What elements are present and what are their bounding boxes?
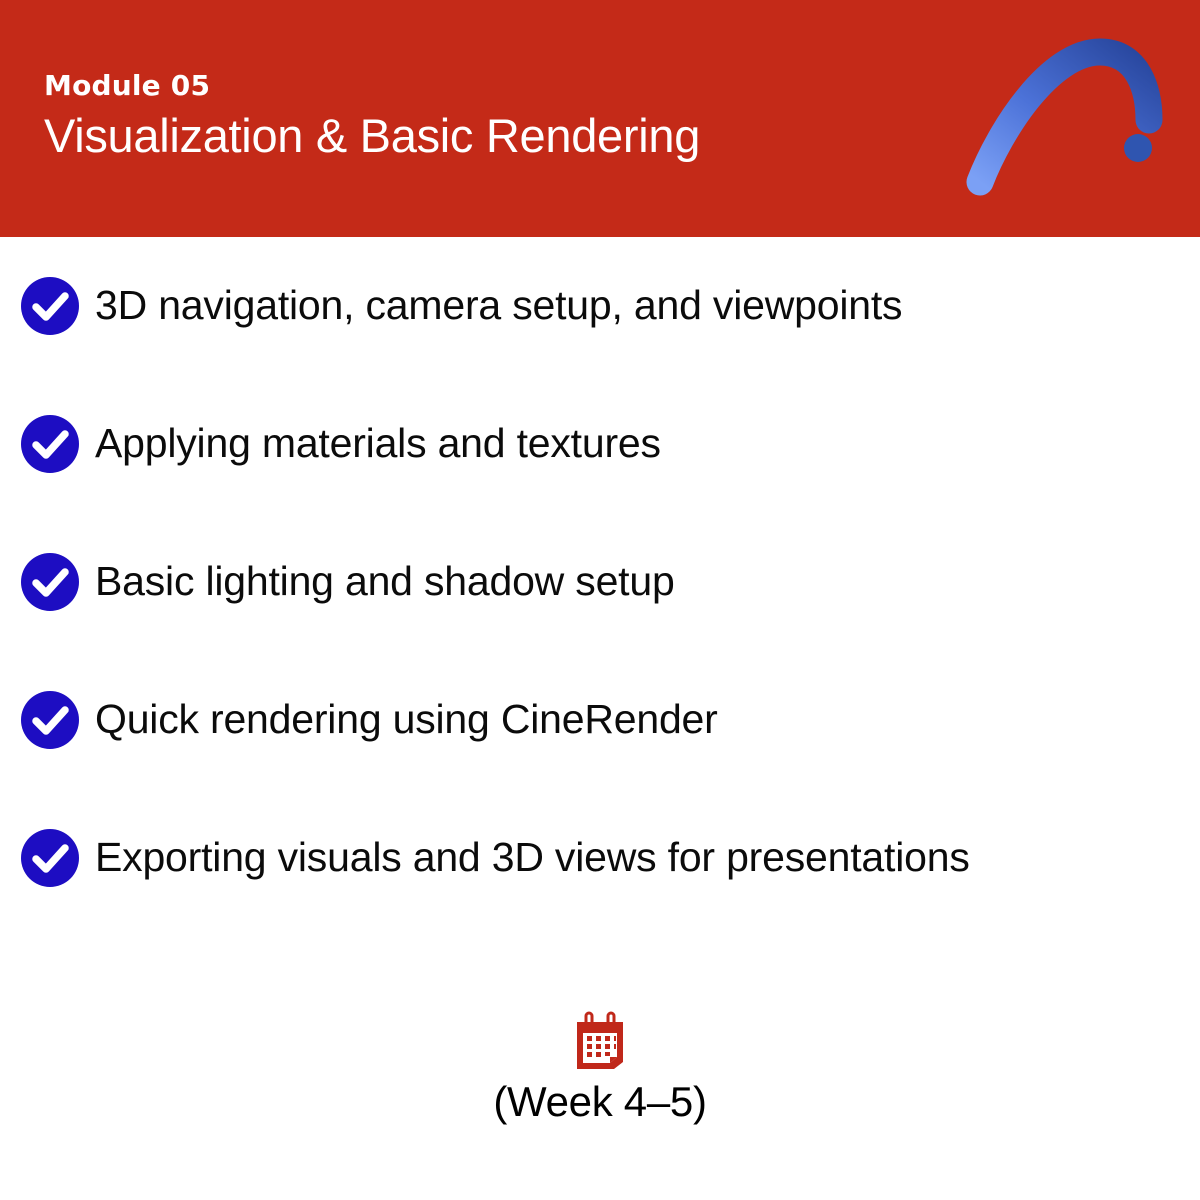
- header-text-block: Module 05 Visualization & Basic Renderin…: [44, 70, 700, 162]
- list-item: Exporting visuals and 3D views for prese…: [0, 789, 1200, 927]
- check-circle-icon: [21, 829, 79, 887]
- check-circle-icon: [21, 553, 79, 611]
- list-item-label: Basic lighting and shadow setup: [95, 558, 675, 605]
- check-circle-icon: [21, 277, 79, 335]
- check-circle-icon: [21, 415, 79, 473]
- calendar-icon: [569, 1010, 631, 1072]
- topics-list: 3D navigation, camera setup, and viewpoi…: [0, 237, 1200, 927]
- list-item: 3D navigation, camera setup, and viewpoi…: [0, 237, 1200, 375]
- list-item: Applying materials and textures: [0, 375, 1200, 513]
- module-label: Module 05: [44, 70, 700, 102]
- list-item-label: Exporting visuals and 3D views for prese…: [95, 834, 970, 881]
- footer-block: (Week 4–5): [0, 1010, 1200, 1126]
- slide-header: Module 05 Visualization & Basic Renderin…: [0, 0, 1200, 237]
- duration-label: (Week 4–5): [493, 1078, 706, 1126]
- module-slide: Module 05 Visualization & Basic Renderin…: [0, 0, 1200, 1200]
- list-item: Basic lighting and shadow setup: [0, 513, 1200, 651]
- arc-swoosh-decoration: [940, 0, 1200, 237]
- list-item-label: Quick rendering using CineRender: [95, 696, 718, 743]
- list-item-label: Applying materials and textures: [95, 420, 661, 467]
- list-item: Quick rendering using CineRender: [0, 651, 1200, 789]
- check-circle-icon: [21, 691, 79, 749]
- list-item-label: 3D navigation, camera setup, and viewpoi…: [95, 282, 902, 329]
- page-title: Visualization & Basic Rendering: [44, 110, 700, 162]
